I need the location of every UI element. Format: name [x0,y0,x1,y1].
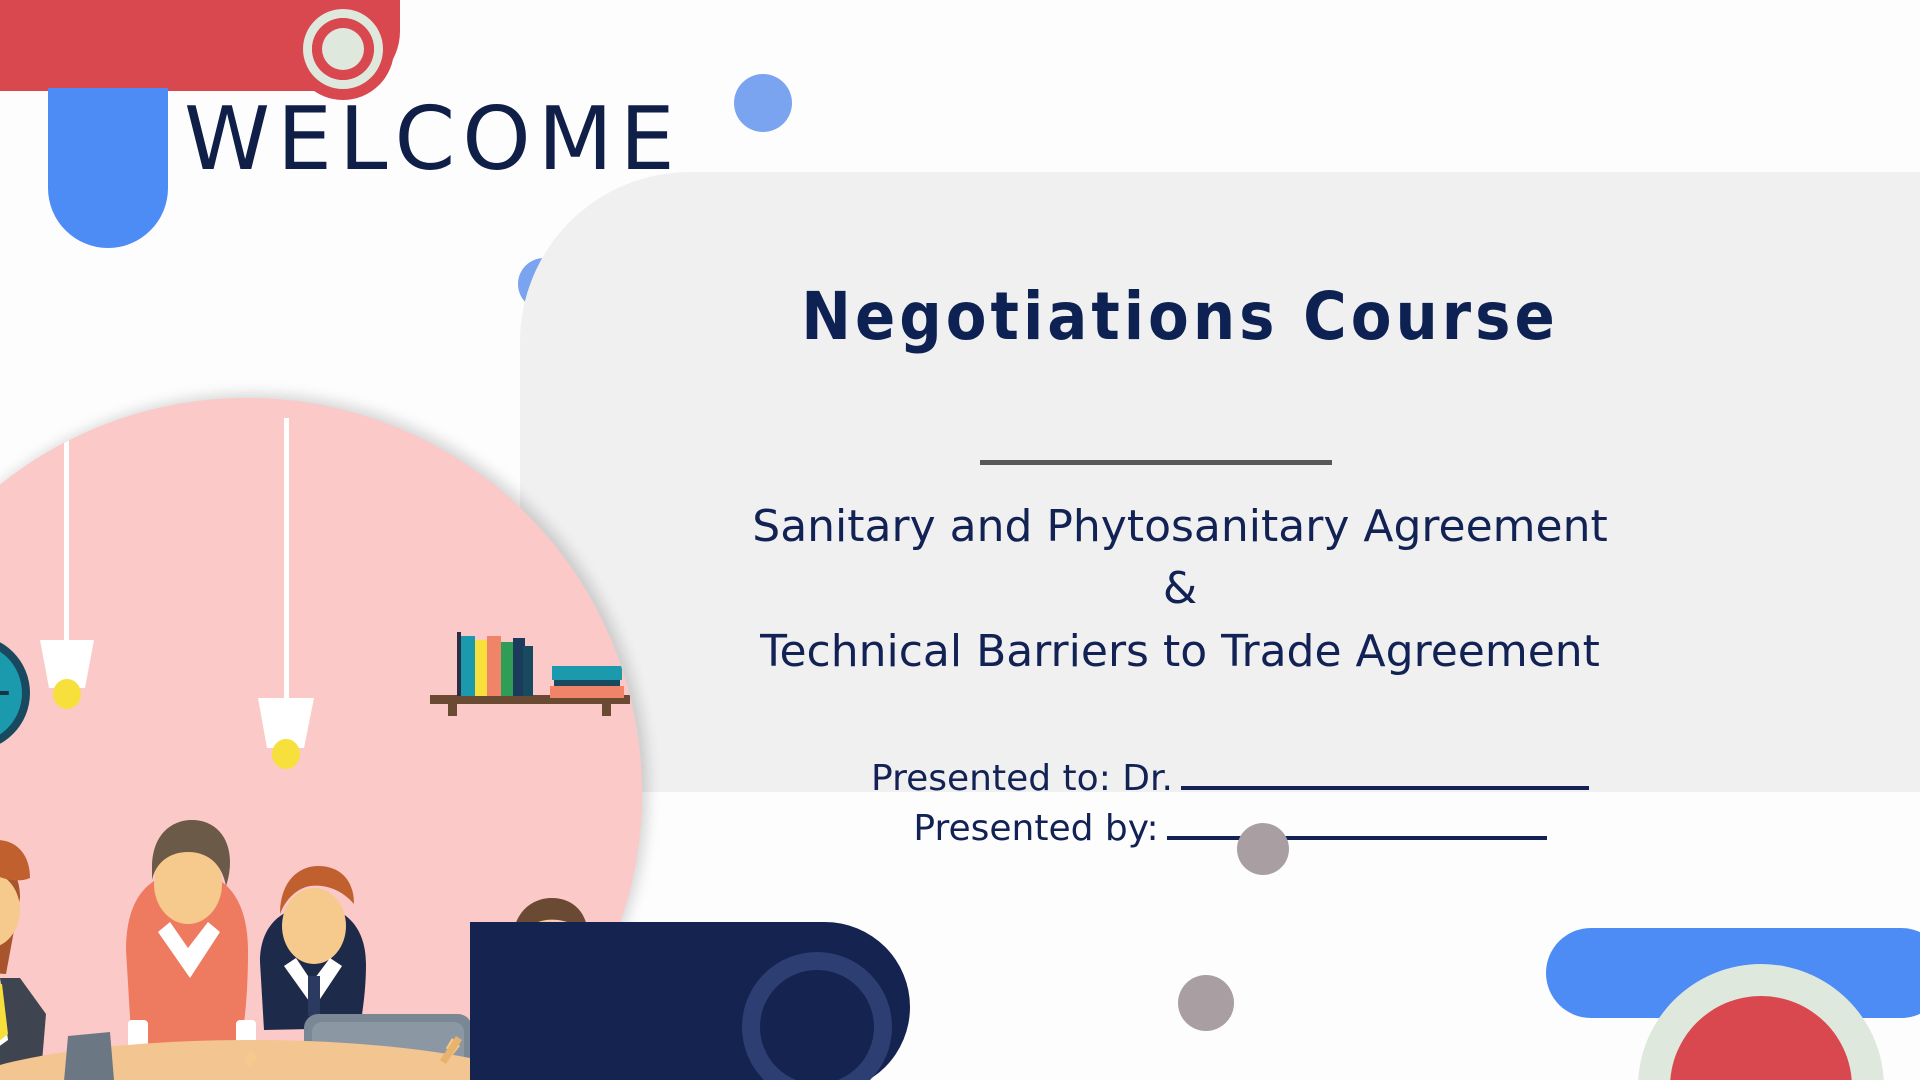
presented-by-blank-field[interactable] [1167,836,1547,840]
target-center-icon [322,28,364,70]
subtitle-line-1: Sanitary and Phytosanitary Agreement [600,496,1760,558]
target-rings-icon [292,0,394,100]
blue-pill-shape [48,88,168,248]
welcome-heading: WELCOME [184,96,682,183]
presented-block: Presented to: Dr. Presented by: [700,754,1760,853]
page-title: Negotiations Course [520,282,1840,351]
gray-dot-lower [1178,975,1234,1031]
subtitle-ampersand: & [600,558,1760,620]
gray-dot-on-line [1237,823,1289,875]
subtitle-block: Sanitary and Phytosanitary Agreement & T… [600,496,1760,683]
presentation-slide: WELCOME [0,0,1920,1080]
subtitle-line-2: Technical Barriers to Trade Agreement [600,621,1760,683]
slide-content: Negotiations Course Sanitary and Phytosa… [520,172,1920,872]
presented-by-label: Presented by: [913,804,1158,854]
presented-by-row: Presented by: [700,804,1760,854]
presented-to-row: Presented to: Dr. [700,754,1760,804]
blue-dot-upper [734,74,792,132]
presented-to-blank-field[interactable] [1181,786,1589,790]
presented-to-label: Presented to: Dr. [871,754,1173,804]
title-divider [980,460,1332,465]
